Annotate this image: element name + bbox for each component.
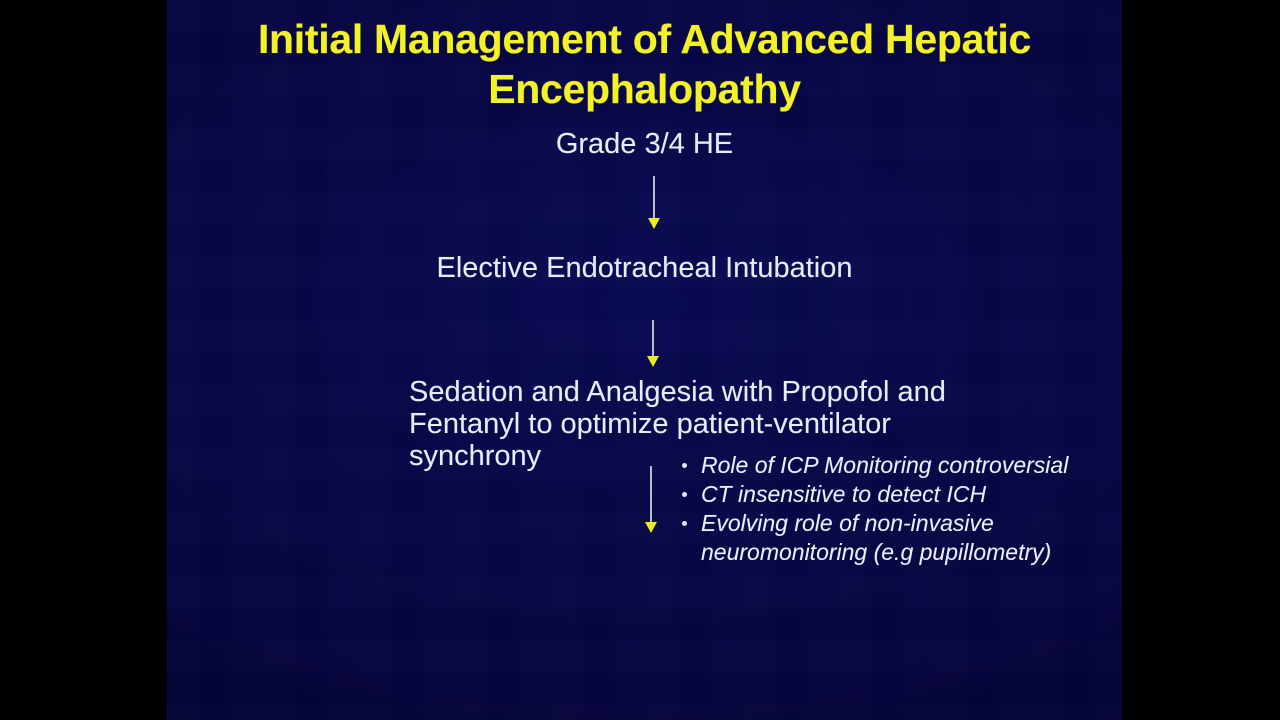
list-item-label: CT insensitive to detect ICH bbox=[701, 481, 986, 507]
flow-step-grade: Grade 3/4 HE bbox=[167, 128, 1122, 160]
bullet-dot-icon bbox=[682, 492, 687, 497]
page-title: Initial Management of Advanced Hepatic E… bbox=[167, 14, 1122, 114]
flow-step-intubation: Elective Endotracheal Intubation bbox=[167, 252, 1122, 284]
list-item: Role of ICP Monitoring controversial bbox=[672, 451, 1112, 480]
slide-canvas: Initial Management of Advanced Hepatic E… bbox=[167, 0, 1122, 720]
list-item-label: Role of ICP Monitoring controversial bbox=[701, 452, 1068, 478]
bullet-list: Role of ICP Monitoring controversial CT … bbox=[672, 451, 1112, 567]
list-item: Evolving role of non-invasive neuromonit… bbox=[672, 509, 1112, 567]
arrow-head bbox=[648, 218, 660, 229]
arrow-shaft bbox=[652, 320, 654, 358]
list-item-label: Evolving role of non-invasive neuromonit… bbox=[701, 510, 1051, 565]
slide-frame: Initial Management of Advanced Hepatic E… bbox=[0, 0, 1280, 720]
bullet-dot-icon bbox=[682, 521, 687, 526]
down-arrow-icon bbox=[646, 176, 662, 230]
down-arrow-icon bbox=[643, 466, 659, 536]
pillarbox-left bbox=[0, 0, 167, 720]
arrow-shaft bbox=[650, 466, 652, 524]
pillarbox-right bbox=[1122, 0, 1280, 720]
arrow-head bbox=[645, 522, 657, 533]
arrow-head bbox=[647, 356, 659, 367]
arrow-shaft bbox=[653, 176, 655, 220]
bullet-dot-icon bbox=[682, 463, 687, 468]
down-arrow-icon bbox=[645, 320, 661, 370]
list-item: CT insensitive to detect ICH bbox=[672, 480, 1112, 509]
